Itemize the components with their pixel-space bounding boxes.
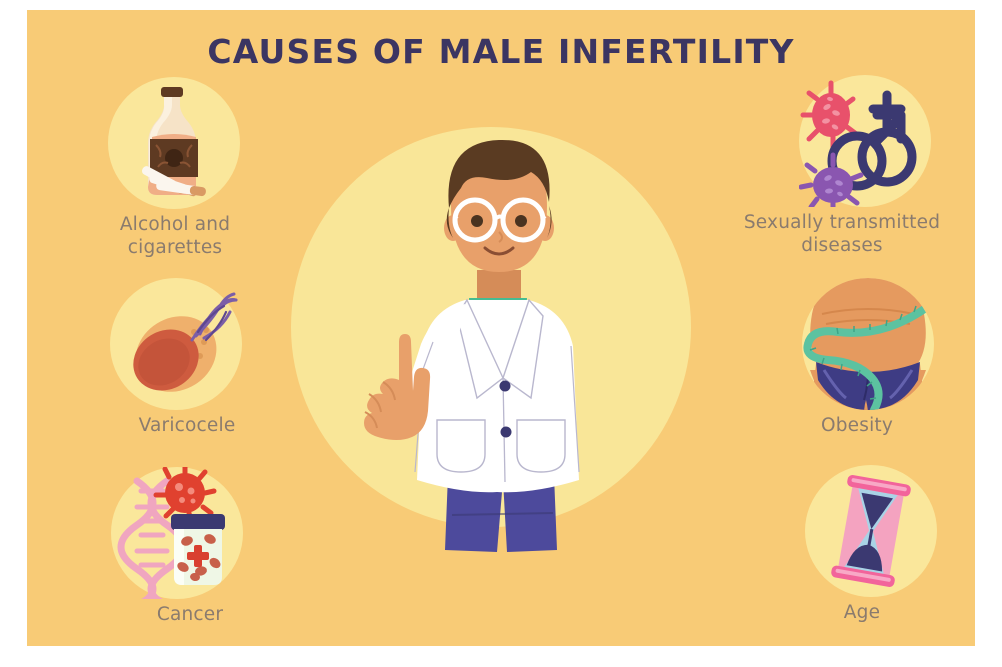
cause-item-age: Age — [757, 465, 967, 624]
cause-badge — [799, 75, 931, 207]
hourglass-icon — [805, 465, 937, 597]
varicose-veins — [192, 294, 236, 340]
cause-item-cancer: Cancer — [85, 467, 295, 626]
cause-badge — [805, 465, 937, 597]
coat-button — [501, 427, 512, 438]
cause-badge — [111, 467, 243, 599]
gender-symbols-virus-icon — [799, 75, 931, 207]
dna-cancer-cell-pill-bottle-icon — [111, 467, 243, 599]
female-symbol — [862, 95, 912, 182]
virus-purple — [801, 155, 861, 207]
coat-button — [500, 381, 511, 392]
page-title: CAUSES OF MALE INFERTILITY — [27, 32, 975, 71]
liquor-bottle-and-cigarettes-icon — [108, 77, 240, 209]
cause-item-varicocele: Varicocele — [82, 278, 292, 437]
cause-item-obesity: Obesity — [752, 278, 962, 437]
cause-badge — [802, 278, 934, 410]
cause-badge — [108, 77, 240, 209]
doctor-illustration — [357, 120, 637, 590]
infographic-poster: CAUSES OF MALE INFERTILITY — [27, 10, 975, 646]
cause-label: Sexually transmitted diseases — [737, 211, 947, 257]
cause-item-alcohol: Alcohol and cigarettes — [70, 77, 280, 259]
pill-bottle — [171, 514, 225, 585]
cause-label: Varicocele — [82, 414, 292, 437]
cause-label: Obesity — [752, 414, 962, 437]
testicle-varicose-veins-icon — [110, 278, 242, 410]
cause-label: Cancer — [85, 603, 295, 626]
cause-label: Age — [757, 601, 967, 624]
cancer-cell — [156, 467, 214, 522]
belly-measuring-tape-icon — [802, 278, 934, 410]
cause-badge — [110, 278, 242, 410]
cause-label: Alcohol and cigarettes — [70, 213, 280, 259]
cause-item-std: Sexually transmitted diseases — [737, 75, 947, 257]
